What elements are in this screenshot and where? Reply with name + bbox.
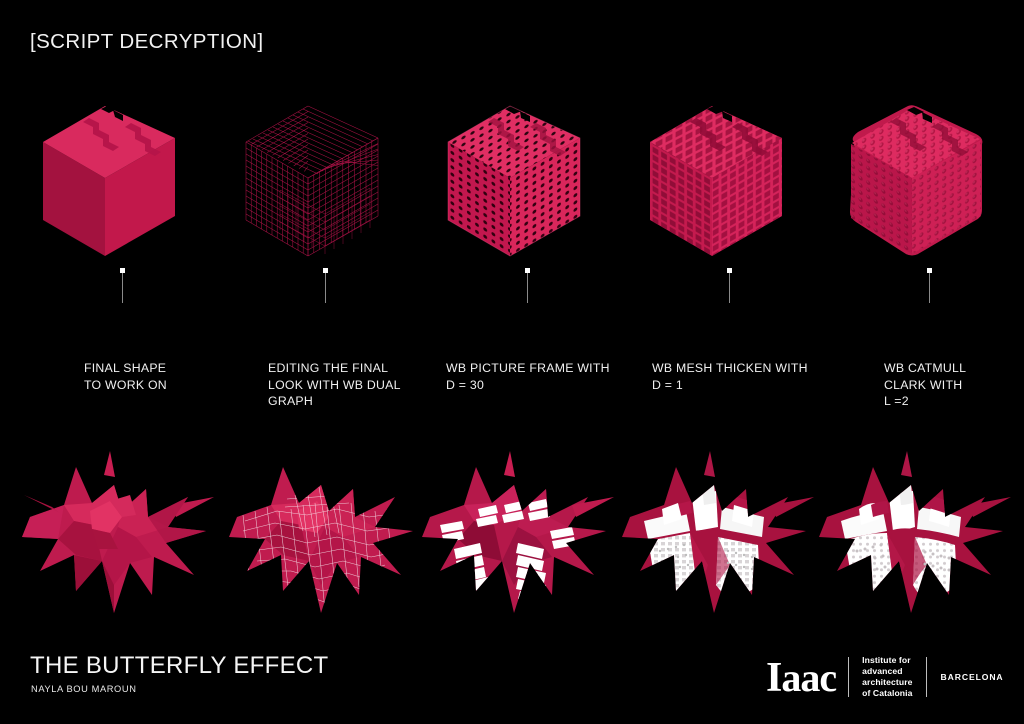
caption-line: WB CATMULL <box>884 360 1024 377</box>
process-diagram-row <box>0 80 1024 270</box>
diagram-step-3 <box>432 80 622 270</box>
pin-marker-2 <box>325 273 326 303</box>
project-author: NAYLA BOU MAROUN <box>31 684 137 694</box>
iaac-city: BARCELONA <box>927 672 1004 682</box>
caption-line: CLARK WITH <box>884 377 1024 394</box>
cube-solid-stepped <box>27 80 217 270</box>
bloom-4-svg <box>618 445 823 625</box>
pin-marker-5 <box>929 273 930 303</box>
diagram-step-2 <box>230 80 420 270</box>
pin-marker-1 <box>122 273 123 303</box>
caption-step-5: WB CATMULL CLARK WITH L =2 <box>884 360 1024 410</box>
cube-wireframe <box>230 80 420 270</box>
cube-catmull-clark <box>834 80 1024 270</box>
diagram-step-5 <box>834 80 1024 270</box>
pin-marker-4 <box>729 273 730 303</box>
result-3 <box>418 445 623 625</box>
bloom-3-svg <box>418 445 623 625</box>
tagline-line: architecture <box>862 677 912 688</box>
iaac-wordmark-cap: I <box>766 655 781 701</box>
diagram-step-4 <box>634 80 824 270</box>
poster-canvas: [SCRIPT DECRYPTION] <box>0 0 1024 724</box>
caption-line: WB MESH THICKEN WITH <box>652 360 832 377</box>
diagram-step-1 <box>27 80 217 270</box>
result-row <box>0 445 1024 625</box>
iaac-wordmark-rest: aac <box>781 655 836 700</box>
iaac-logo: Iaac Institute for advanced architecture… <box>766 653 1004 701</box>
project-title: THE BUTTERFLY EFFECT <box>30 652 328 680</box>
caption-step-1: FINAL SHAPE TO WORK ON <box>84 360 249 393</box>
caption-step-3: WB PICTURE FRAME WITH D = 30 <box>446 360 626 393</box>
result-1 <box>18 445 223 625</box>
caption-line: GRAPH <box>268 393 433 410</box>
caption-line: D = 1 <box>652 377 832 394</box>
result-2 <box>225 445 430 625</box>
cube-1-svg <box>27 80 217 270</box>
cube-2-svg <box>230 80 420 270</box>
pin-marker-3 <box>527 273 528 303</box>
iaac-wordmark: Iaac <box>766 658 848 698</box>
result-4 <box>618 445 823 625</box>
caption-line: L =2 <box>884 393 1024 410</box>
cube-4-svg <box>634 80 824 270</box>
bloom-1-svg <box>18 445 223 625</box>
page-title: [SCRIPT DECRYPTION] <box>30 30 264 54</box>
cube-mesh-thicken <box>634 80 824 270</box>
caption-step-2: EDITING THE FINAL LOOK WITH WB DUAL GRAP… <box>268 360 433 410</box>
tagline-line: advanced <box>862 666 912 677</box>
bloom-5-svg <box>815 445 1020 625</box>
iaac-tagline: Institute for advanced architecture of C… <box>849 655 925 700</box>
cube-5-svg <box>834 80 1024 270</box>
caption-line: TO WORK ON <box>84 377 249 394</box>
caption-line: WB PICTURE FRAME WITH <box>446 360 626 377</box>
caption-line: FINAL SHAPE <box>84 360 249 377</box>
bloom-2-svg <box>225 445 430 625</box>
caption-line: LOOK WITH WB DUAL <box>268 377 433 394</box>
cube-picture-frame <box>432 80 622 270</box>
caption-step-4: WB MESH THICKEN WITH D = 1 <box>652 360 832 393</box>
result-5 <box>815 445 1020 625</box>
cube-3-svg <box>432 80 622 270</box>
bloom-base <box>22 451 214 613</box>
caption-line: D = 30 <box>446 377 626 394</box>
tagline-line: Institute for <box>862 655 912 666</box>
caption-line: EDITING THE FINAL <box>268 360 433 377</box>
tagline-line: of Catalonia <box>862 688 912 699</box>
